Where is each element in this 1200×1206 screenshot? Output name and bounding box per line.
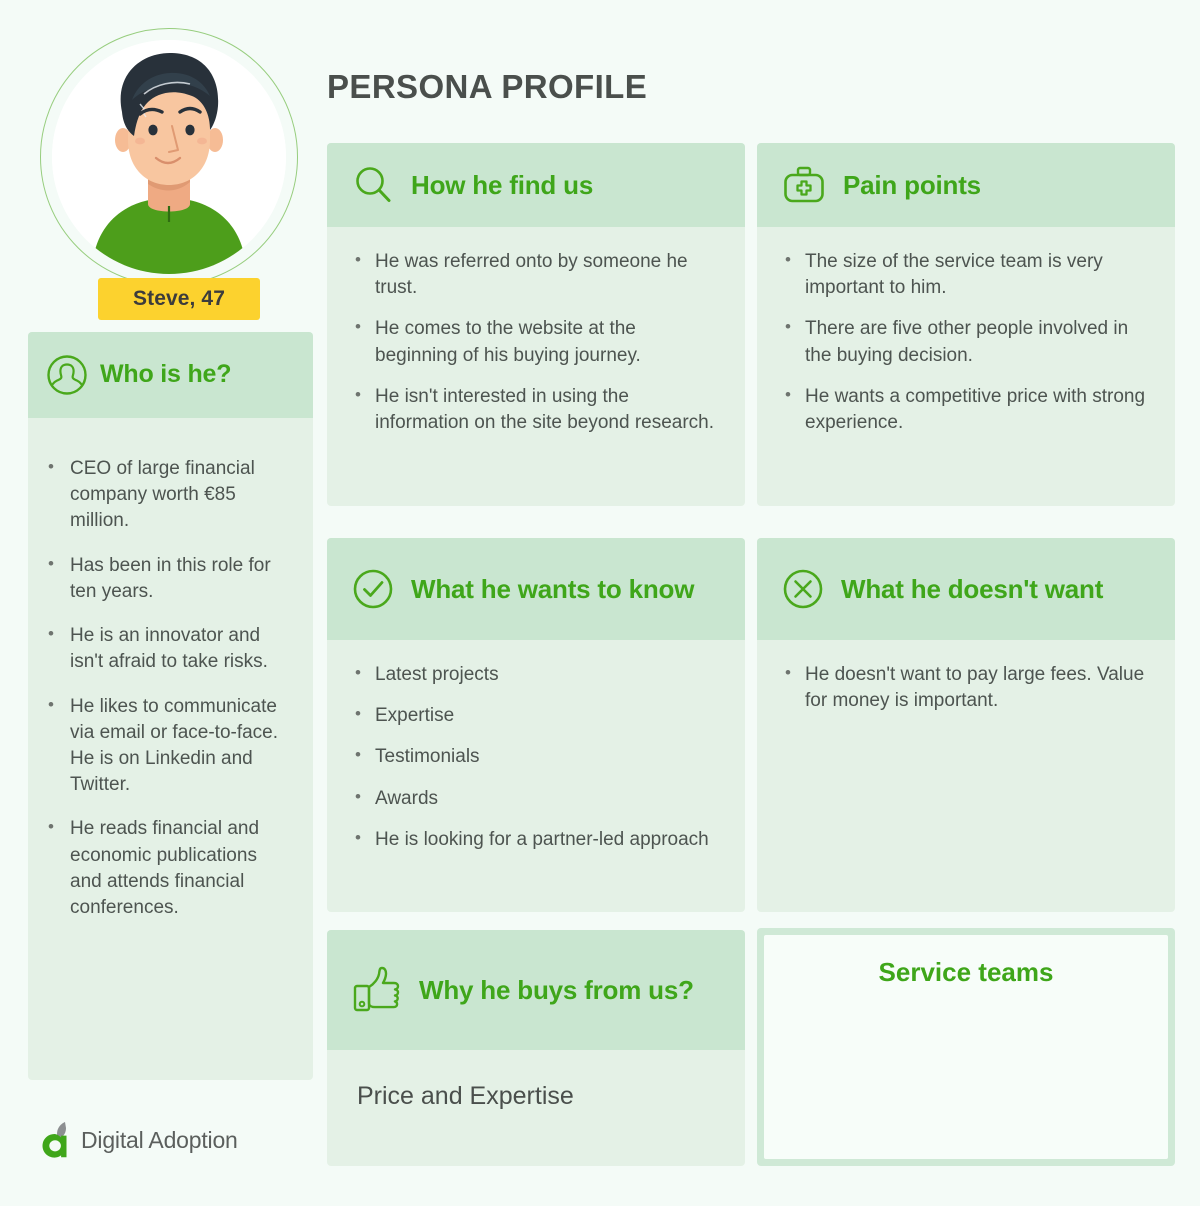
- list-item: CEO of large financial company worth €85…: [46, 456, 291, 535]
- card-find-header: How he find us: [327, 143, 745, 227]
- card-what-he-wants-to-know: What he wants to know Latest projects Ex…: [327, 538, 745, 912]
- list-item: He is looking for a partner-led approach: [353, 827, 719, 853]
- card-who-body: CEO of large financial company worth €85…: [28, 418, 313, 961]
- card-pain-header: Pain points: [757, 143, 1175, 227]
- wants-bullet-list: Latest projects Expertise Testimonials A…: [353, 662, 719, 853]
- thumbs-up-icon: [351, 965, 403, 1015]
- card-why-he-buys-from-us: Why he buys from us? Price and Expertise: [327, 930, 745, 1166]
- left-column: Steve, 47: [28, 28, 313, 290]
- list-item: He wants a competitive price with strong…: [783, 384, 1149, 436]
- search-icon: [351, 163, 395, 207]
- list-item: He doesn't want to pay large fees. Value…: [783, 662, 1149, 714]
- card-notwant-body: He doesn't want to pay large fees. Value…: [757, 640, 1175, 740]
- card-why-body: Price and Expertise: [327, 1050, 745, 1143]
- pain-bullet-list: The size of the service team is very imp…: [783, 249, 1149, 436]
- list-item: Latest projects: [353, 662, 719, 688]
- brand-logo: Digital Adoption: [40, 1118, 238, 1162]
- service-teams-inner: Service teams: [764, 935, 1168, 1159]
- card-pain-points: Pain points The size of the service team…: [757, 143, 1175, 506]
- person-circle-icon: [46, 354, 88, 396]
- list-item: Awards: [353, 786, 719, 812]
- digital-adoption-logo-icon: [40, 1118, 74, 1162]
- list-item: Expertise: [353, 703, 719, 729]
- list-item: He is an innovator and isn't afraid to t…: [46, 623, 291, 675]
- card-notwant-header: What he doesn't want: [757, 538, 1175, 640]
- card-why-title: Why he buys from us?: [419, 974, 694, 1007]
- card-who-header: Who is he?: [28, 332, 313, 418]
- list-item: He was referred onto by someone he trust…: [353, 249, 719, 301]
- persona-profile-infographic: Steve, 47 Who is he? CEO of large financ…: [0, 0, 1200, 1206]
- list-item: He likes to communicate via email or fac…: [46, 694, 291, 799]
- list-item: Testimonials: [353, 744, 719, 770]
- why-answer-text: Price and Expertise: [357, 1082, 715, 1111]
- service-teams-frame: Service teams: [757, 928, 1175, 1166]
- name-badge: Steve, 47: [98, 278, 260, 320]
- list-item: The size of the service team is very imp…: [783, 249, 1149, 301]
- first-aid-kit-icon: [781, 163, 827, 207]
- card-find-title: How he find us: [411, 169, 593, 202]
- avatar: Steve, 47: [28, 28, 313, 290]
- page-title: PERSONA PROFILE: [327, 68, 647, 106]
- check-circle-icon: [351, 567, 395, 611]
- avatar-illustration-icon: [52, 40, 286, 274]
- card-wants-title: What he wants to know: [411, 573, 694, 606]
- card-what-he-doesnt-want: What he doesn't want He doesn't want to …: [757, 538, 1175, 912]
- card-service-teams: Service teams: [757, 928, 1175, 1166]
- list-item: He isn't interested in using the informa…: [353, 384, 719, 436]
- x-circle-icon: [781, 567, 825, 611]
- card-who-title: Who is he?: [100, 359, 231, 390]
- card-how-he-finds-us: How he find us He was referred onto by s…: [327, 143, 745, 506]
- card-wants-header: What he wants to know: [327, 538, 745, 640]
- list-item: He reads financial and economic publicat…: [46, 816, 291, 921]
- who-bullet-list: CEO of large financial company worth €85…: [46, 456, 291, 921]
- list-item: He comes to the website at the beginning…: [353, 316, 719, 368]
- card-notwant-title: What he doesn't want: [841, 573, 1103, 606]
- card-wants-body: Latest projects Expertise Testimonials A…: [327, 640, 745, 879]
- service-teams-title: Service teams: [879, 957, 1054, 1159]
- card-pain-body: The size of the service team is very imp…: [757, 227, 1175, 462]
- brand-logo-text: Digital Adoption: [81, 1127, 238, 1154]
- card-pain-title: Pain points: [843, 169, 981, 202]
- card-why-header: Why he buys from us?: [327, 930, 745, 1050]
- list-item: Has been in this role for ten years.: [46, 553, 291, 605]
- notwant-bullet-list: He doesn't want to pay large fees. Value…: [783, 662, 1149, 714]
- card-who-is-he: Who is he? CEO of large financial compan…: [28, 332, 313, 1080]
- card-find-body: He was referred onto by someone he trust…: [327, 227, 745, 462]
- find-bullet-list: He was referred onto by someone he trust…: [353, 249, 719, 436]
- list-item: There are five other people involved in …: [783, 316, 1149, 368]
